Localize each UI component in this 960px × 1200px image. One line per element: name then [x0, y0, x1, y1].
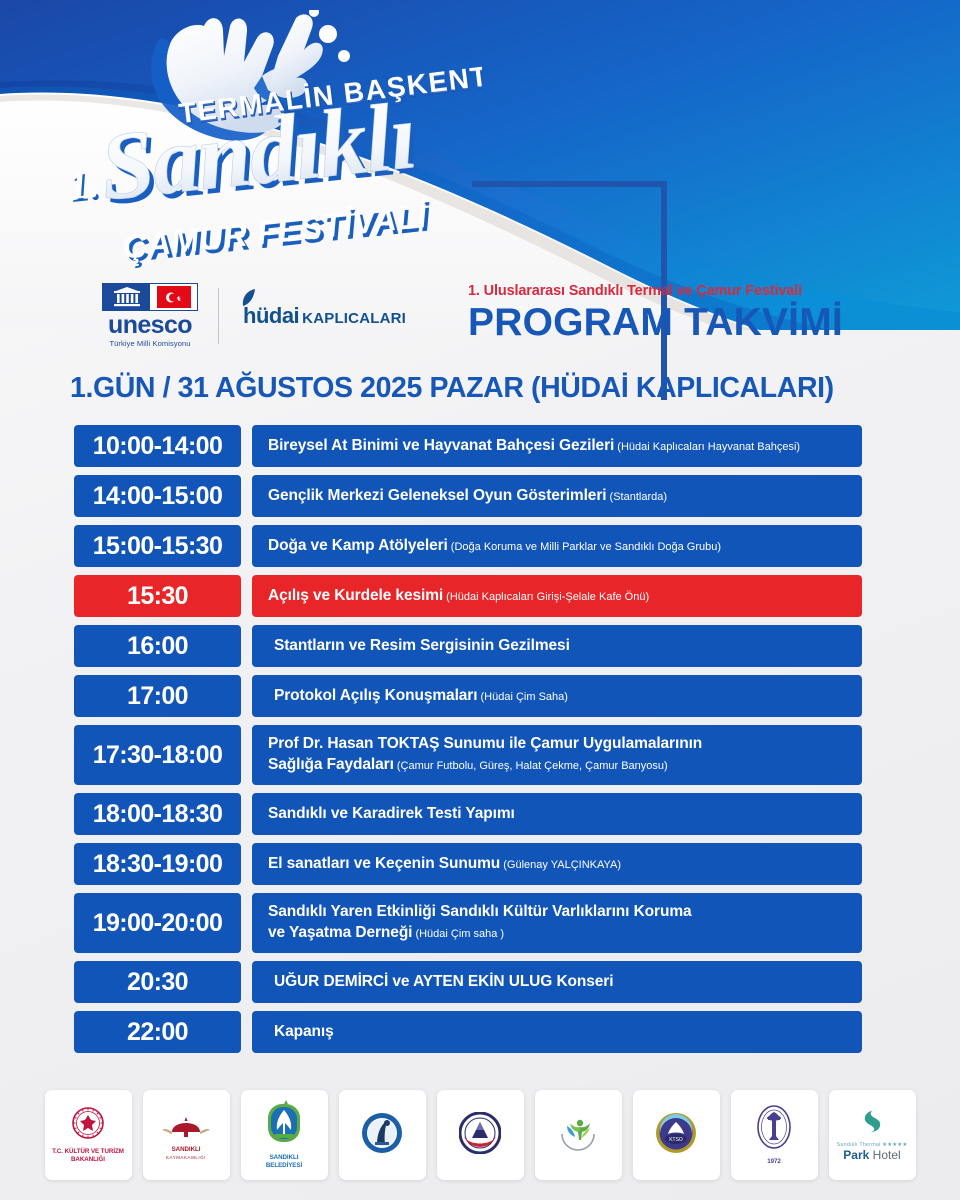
svg-text:KTSO: KTSO [669, 1137, 683, 1143]
schedule-table: 10:00-14:00Bireysel At Binimi ve Hayvana… [74, 425, 862, 1061]
event-title: Gençlik Merkezi Geleneksel Oyun Gösterim… [268, 487, 606, 504]
afyon-kocatepe-universitesi-emblem-icon [361, 1112, 403, 1159]
sponsor-name: Park Hotel [843, 1149, 900, 1162]
schedule-event: Kapanış [252, 1011, 862, 1053]
sponsor-logo-strip: T.C. KÜLTÜR VE TURİZM BAKANLIĞISANDIKLIK… [0, 1090, 960, 1186]
schedule-row: 15:00-15:30Doğa ve Kamp Atölyeleri (Doğa… [74, 525, 862, 567]
schedule-event: Sandıklı ve Karadirek Testi Yapımı [252, 793, 862, 835]
schedule-time: 18:30-19:00 [74, 843, 241, 885]
sponsor-label: T.C. KÜLTÜR VE TURİZM BAKANLIĞI [52, 1148, 124, 1164]
event-title: ve Yaşatma Derneği [268, 924, 412, 941]
sandikli-kaymakamligi-emblem-icon [162, 1110, 210, 1143]
sponsor-logo-sandikli-belediyesi: SANDIKLI BELEDİYESİ [241, 1090, 328, 1180]
event-note: (Stantlarda) [606, 491, 667, 503]
sponsor-logo-saglik-bilimleri-universitesi [437, 1090, 524, 1180]
svg-text:Sandıklı: Sandıklı [95, 81, 419, 220]
kultur-turizm-bakanligi-emblem-icon [71, 1106, 105, 1145]
sponsor-logo-sandikli-kaymakamligi: SANDIKLIKAYMAKAMLIĞI [143, 1090, 230, 1180]
event-note: (Gülenay YALÇINKAYA) [500, 859, 621, 871]
schedule-time: 15:30 [74, 575, 241, 617]
festival-kicker: 1. Uluslararası Sandıklı Termal ve Çamur… [468, 283, 888, 299]
event-title: Doğa ve Kamp Atölyeleri [268, 537, 448, 554]
unesco-wordmark: unesco [108, 312, 192, 338]
schedule-time: 20:30 [74, 961, 241, 1003]
event-note: (Hüdai Çim saha ) [412, 928, 504, 940]
program-title-block: 1. Uluslararası Sandıklı Termal ve Çamur… [468, 283, 888, 344]
schedule-event: Açılış ve Kurdele kesimi (Hüdai Kaplıcal… [252, 575, 862, 617]
schedule-event: Bireysel At Binimi ve Hayvanat Bahçesi G… [252, 425, 862, 467]
event-title: Bireysel At Binimi ve Hayvanat Bahçesi G… [268, 437, 614, 454]
sponsor-logo-sandikli-esnaf-odasi: 1972 [731, 1090, 818, 1180]
schedule-time: 22:00 [74, 1011, 241, 1053]
sponsor-label: SANDIKLI [172, 1146, 201, 1154]
schedule-event: Stantların ve Resim Sergisinin Gezilmesi [252, 625, 862, 667]
ktsa-kurumu-emblem-icon: KTSO [655, 1112, 697, 1159]
event-title: Prof Dr. Hasan TOKTAŞ Sunumu ile Çamur U… [268, 735, 702, 752]
sandikli-belediyesi-emblem-icon [264, 1100, 304, 1151]
hudai-wordmark: hüdai [243, 303, 299, 329]
unesco-temple-icon [103, 284, 150, 310]
saglik-bilimleri-universitesi-emblem-icon [459, 1112, 501, 1159]
sandikli-esnaf-odasi-emblem-icon [756, 1104, 792, 1155]
hotel-name-bold: Park [843, 1148, 869, 1162]
poster-root: TERMALİN BAŞKENTİ TERMALİN BAŞKENTİ 1. 1… [0, 0, 960, 1200]
event-title: Protokol Açılış Konuşmaları [274, 687, 477, 704]
schedule-event: Doğa ve Kamp Atölyeleri (Doğa Koruma ve … [252, 525, 862, 567]
hotel-swirl-icon [859, 1108, 885, 1139]
hudai-suffix: KAPLICALARI [302, 310, 406, 327]
schedule-time: 17:30-18:00 [74, 725, 241, 785]
event-note: (Hüdai Kaplıcaları Hayvanat Bahçesi) [614, 441, 800, 453]
sponsor-logo-kultur-turizm-bakanligi: T.C. KÜLTÜR VE TURİZM BAKANLIĞI [45, 1090, 132, 1180]
event-note: (Hüdai Kaplıcaları Girişi-Şelale Kafe Ön… [443, 591, 649, 603]
schedule-event: Protokol Açılış Konuşmaları (Hüdai Çim S… [252, 675, 862, 717]
schedule-time: 10:00-14:00 [74, 425, 241, 467]
unesco-logo: unesco Türkiye Milli Komisyonu [100, 283, 200, 348]
sponsor-logo-saglik-mudurlugu [535, 1090, 622, 1180]
festival-logo-artwork: TERMALİN BAŞKENTİ TERMALİN BAŞKENTİ 1. 1… [52, 10, 482, 270]
schedule-time: 14:00-15:00 [74, 475, 241, 517]
svg-text:1.: 1. [66, 160, 101, 208]
schedule-event: Gençlik Merkezi Geleneksel Oyun Gösterim… [252, 475, 862, 517]
schedule-time: 15:00-15:30 [74, 525, 241, 567]
sponsor-logo-ktsa-kurumu: KTSO [633, 1090, 720, 1180]
schedule-row: 10:00-14:00Bireysel At Binimi ve Hayvana… [74, 425, 862, 467]
schedule-event: Sandıklı Yaren Etkinliği Sandıklı Kültür… [252, 893, 862, 953]
partner-divider [218, 288, 219, 344]
hudai-leaf-icon [241, 289, 257, 307]
event-note: (Doğa Koruma ve Milli Parklar ve Sandıkl… [448, 541, 721, 553]
partner-logo-row: unesco Türkiye Milli Komisyonu hüdai KAP… [100, 283, 406, 348]
event-title: Sandıklı ve Karadirek Testi Yapımı [268, 805, 515, 822]
schedule-event: El sanatları ve Keçenin Sunumu (Gülenay … [252, 843, 862, 885]
schedule-row: 16:00Stantların ve Resim Sergisinin Gezi… [74, 625, 862, 667]
schedule-row: 19:00-20:00Sandıklı Yaren Etkinliği Sand… [74, 893, 862, 953]
event-title: Sandıklı Yaren Etkinliği Sandıklı Kültür… [268, 903, 692, 920]
schedule-row: 22:00Kapanış [74, 1011, 862, 1053]
sponsor-sublabel: KAYMAKAMLIĞI [166, 1155, 206, 1160]
page-title: PROGRAM TAKVİMİ [468, 302, 888, 344]
event-title: Sağlığa Faydaları [268, 756, 394, 773]
event-title: Stantların ve Resim Sergisinin Gezilmesi [274, 637, 570, 654]
event-note: (Hüdai Çim Saha) [477, 691, 567, 703]
poster-header: TERMALİN BAŞKENTİ TERMALİN BAŞKENTİ 1. 1… [0, 0, 960, 290]
schedule-event: Prof Dr. Hasan TOKTAŞ Sunumu ile Çamur U… [252, 725, 862, 785]
day-heading: 1.GÜN / 31 AĞUSTOS 2025 PAZAR (HÜDAİ KAP… [70, 372, 834, 405]
schedule-row: 17:00Protokol Açılış Konuşmaları (Hüdai … [74, 675, 862, 717]
unesco-emblem-pair [102, 283, 198, 311]
sponsor-label: SANDIKLI BELEDİYESİ [266, 1154, 302, 1170]
sponsor-label: 1972 [767, 1158, 781, 1166]
schedule-time: 18:00-18:30 [74, 793, 241, 835]
hotel-name-light: Hotel [873, 1148, 901, 1162]
event-title: Kapanış [274, 1023, 334, 1040]
saglik-mudurlugu-emblem-icon [557, 1112, 599, 1159]
schedule-row: 17:30-18:00Prof Dr. Hasan TOKTAŞ Sunumu … [74, 725, 862, 785]
schedule-row: 20:30UĞUR DEMİRCİ ve AYTEN EKİN ULUG Kon… [74, 961, 862, 1003]
schedule-row: 15:30Açılış ve Kurdele kesimi (Hüdai Kap… [74, 575, 862, 617]
schedule-time: 19:00-20:00 [74, 893, 241, 953]
turkish-flag-icon [150, 284, 197, 310]
unesco-subtitle: Türkiye Milli Komisyonu [109, 339, 190, 348]
schedule-row: 14:00-15:00Gençlik Merkezi Geleneksel Oy… [74, 475, 862, 517]
festival-logo: TERMALİN BAŞKENTİ TERMALİN BAŞKENTİ 1. 1… [52, 10, 482, 270]
event-title: El sanatları ve Keçenin Sunumu [268, 855, 500, 872]
schedule-event: UĞUR DEMİRCİ ve AYTEN EKİN ULUG Konseri [252, 961, 862, 1003]
schedule-time: 17:00 [74, 675, 241, 717]
hudai-kaplicalari-logo: hüdai KAPLICALARI [237, 303, 406, 329]
schedule-row: 18:00-18:30Sandıklı ve Karadirek Testi Y… [74, 793, 862, 835]
event-title: UĞUR DEMİRCİ ve AYTEN EKİN ULUG Konseri [274, 973, 613, 990]
schedule-row: 18:30-19:00El sanatları ve Keçenin Sunum… [74, 843, 862, 885]
schedule-time: 16:00 [74, 625, 241, 667]
event-title: Açılış ve Kurdele kesimi [268, 587, 443, 604]
event-note: (Çamur Futbolu, Güreş, Halat Çekme, Çamu… [394, 760, 668, 772]
sponsor-logo-afyon-kocatepe-universitesi [339, 1090, 426, 1180]
sponsor-logo-sandikli-thermal-park-hotel: Sandıklı Thermal ★★★★★Park Hotel [829, 1090, 916, 1180]
